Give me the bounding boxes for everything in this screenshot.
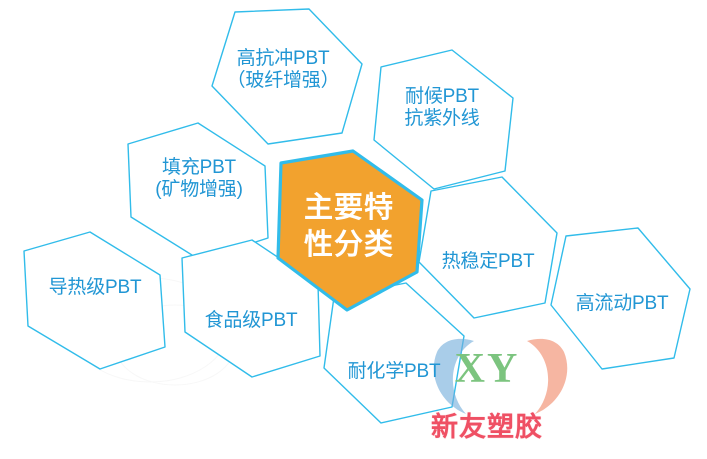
- hex-cell-heat-stable-pbt[interactable]: [419, 177, 557, 318]
- hex-cell-filled-pbt[interactable]: [128, 123, 268, 260]
- hex-cell-thermally-conductive-pbt[interactable]: [24, 232, 165, 369]
- hex-cell-high-flow-pbt[interactable]: [551, 228, 690, 369]
- diagram-canvas: 高抗冲PBT （玻纤增强） 耐候PBT 抗紫外线 填充PBT (矿物增强) 导热…: [0, 0, 707, 459]
- hex-cell-high-impact-pbt[interactable]: [212, 9, 362, 144]
- hex-cell-weather-resistant-pbt[interactable]: [374, 50, 513, 189]
- hexagon-diagram-svg: [0, 0, 707, 459]
